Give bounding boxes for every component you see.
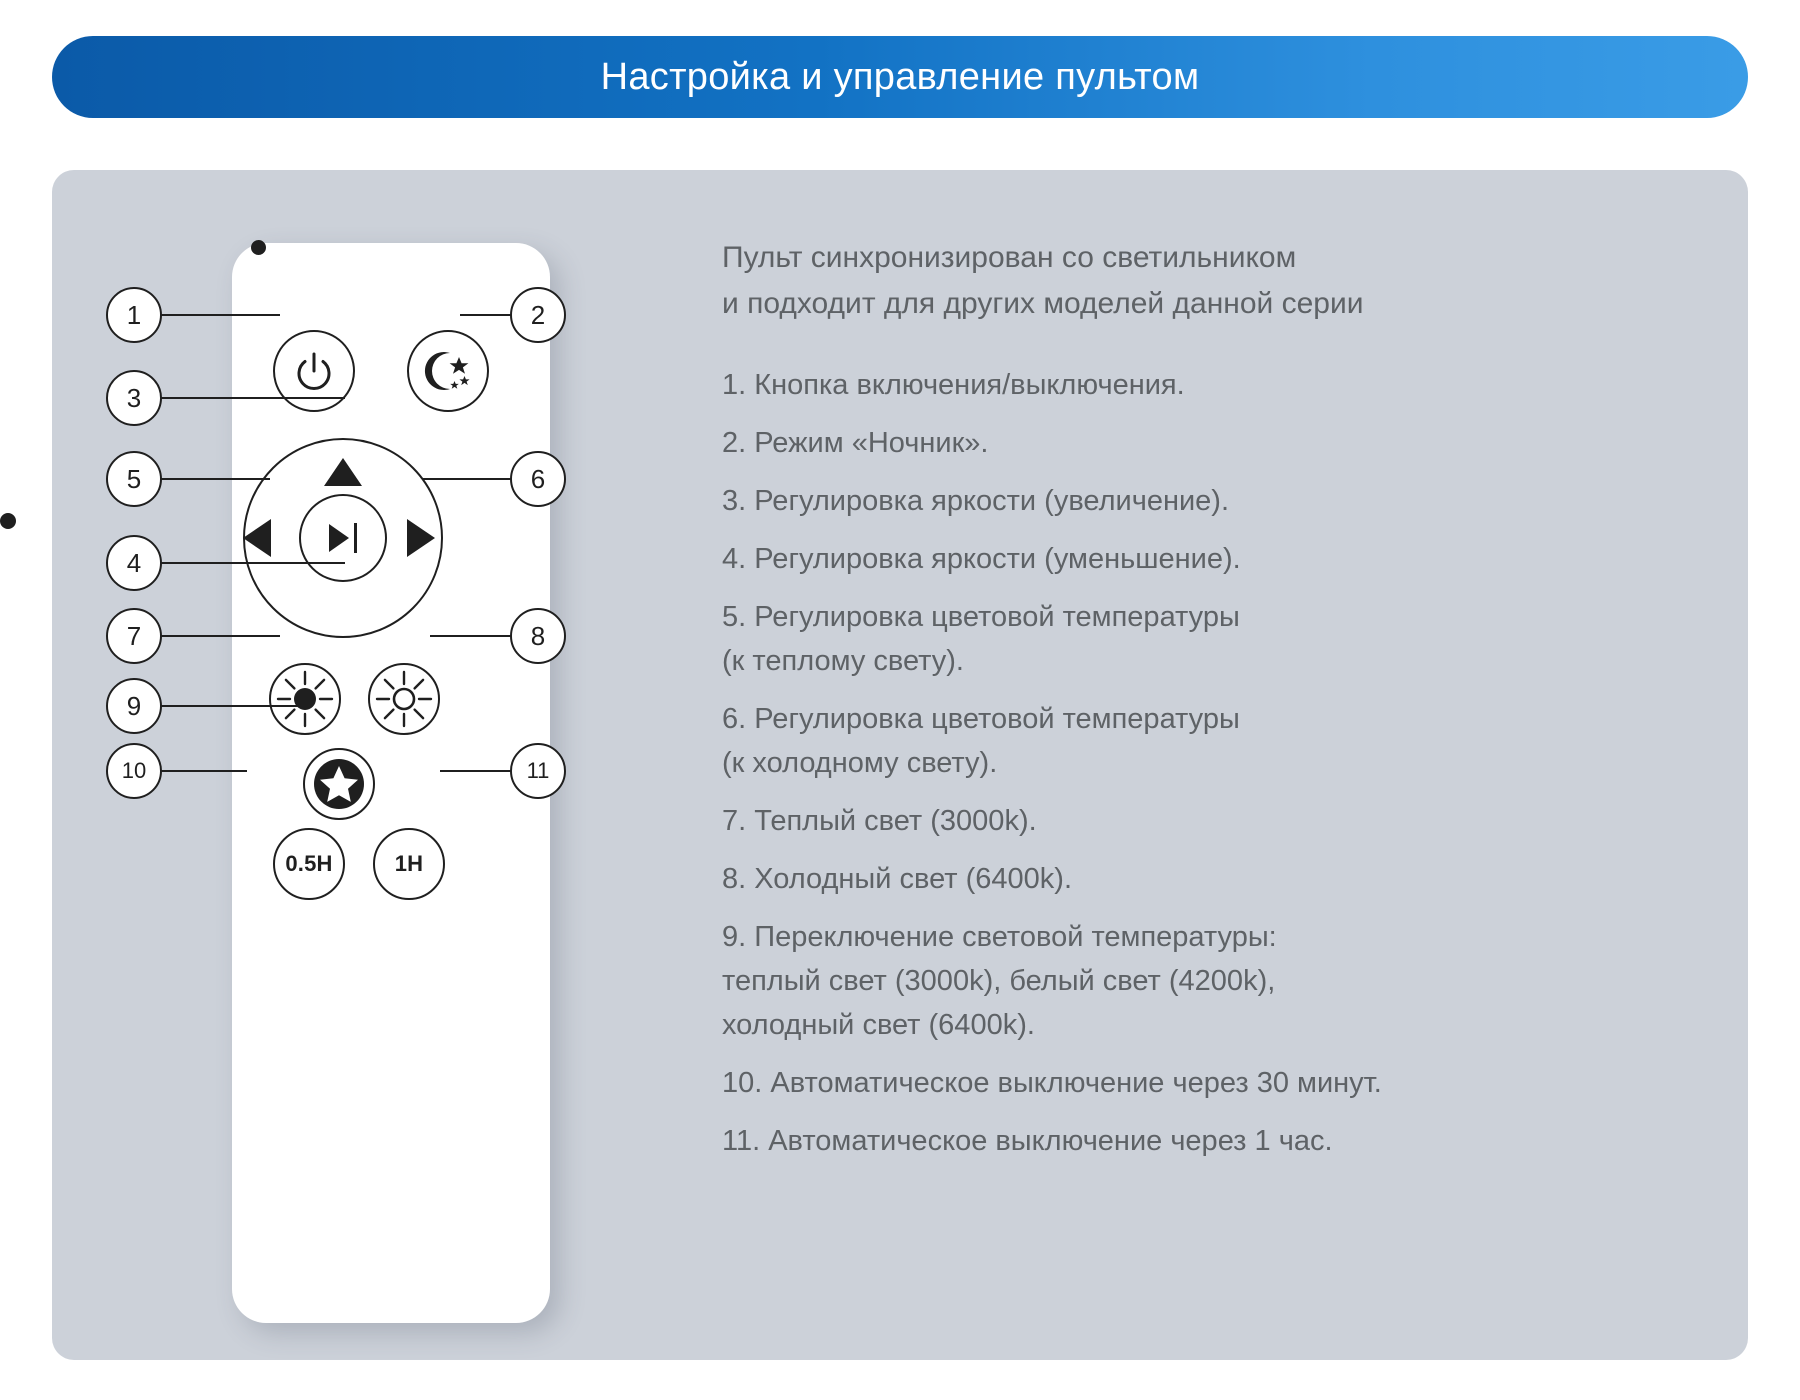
header-banner: Настройка и управление пультом [52, 36, 1748, 118]
play-pause-icon [329, 523, 358, 553]
remote-control-body [232, 243, 550, 1323]
legend-item-2: 2. Режим «Ночник». [722, 421, 1602, 465]
leader-line-5 [160, 478, 270, 480]
color-temp-cycle-button[interactable] [303, 748, 375, 820]
power-icon [292, 349, 336, 393]
callout-badge-1[interactable]: 1 [106, 287, 162, 343]
timer-1hour-button[interactable]: 1H [373, 828, 445, 900]
callout-badge-3[interactable]: 3 [106, 370, 162, 426]
page-root: Настройка и управление пультом [0, 0, 1800, 1400]
legend-item-6: 6. Регулировка цветовой температуры (к х… [722, 697, 1602, 785]
star-icon [310, 755, 368, 813]
sun-filled-icon [274, 668, 336, 730]
callout-badge-7[interactable]: 7 [106, 608, 162, 664]
callout-badge-2[interactable]: 2 [510, 287, 566, 343]
leader-line-6 [422, 478, 522, 480]
timer-1hour-label: 1H [395, 851, 424, 877]
moon-stars-icon [420, 343, 476, 399]
brightness-up-button[interactable] [324, 458, 362, 486]
play-pause-button[interactable] [299, 494, 387, 582]
night-mode-button[interactable] [407, 330, 489, 412]
legend-item-8: 8. Холодный свет (6400k). [722, 857, 1602, 901]
legend-item-5: 5. Регулировка цветовой температуры (к т… [722, 595, 1602, 683]
callout-badge-5[interactable]: 5 [106, 451, 162, 507]
leader-line-4 [160, 562, 345, 564]
legend-item-3: 3. Регулировка яркости (увеличение). [722, 479, 1602, 523]
leader-line-7 [160, 635, 280, 637]
leader-line-9 [160, 705, 305, 707]
sun-outline-icon [373, 668, 435, 730]
leader-line-1 [160, 314, 280, 316]
ir-led-dot [251, 240, 266, 255]
timer-30min-button[interactable]: 0.5H [273, 828, 345, 900]
cold-light-button[interactable] [368, 663, 440, 735]
power-button[interactable] [273, 330, 355, 412]
legend-item-9: 9. Переключение световой температуры: те… [722, 915, 1602, 1047]
legend-item-4: 4. Регулировка яркости (уменьшение). [722, 537, 1602, 581]
leader-line-8 [430, 635, 522, 637]
play-triangle-icon [329, 524, 349, 552]
callout-badge-11[interactable]: 11 [510, 743, 566, 799]
legend-item-10: 10. Автоматическое выключение через 30 м… [722, 1061, 1602, 1105]
ir-led-indicator [0, 513, 16, 529]
callout-badge-9[interactable]: 9 [106, 678, 162, 734]
callout-badge-4[interactable]: 4 [106, 535, 162, 591]
callout-badge-8[interactable]: 8 [510, 608, 566, 664]
callout-badge-10[interactable]: 10 [106, 743, 162, 799]
leader-line-3 [160, 397, 345, 399]
timer-30min-label: 0.5H [285, 851, 332, 877]
leader-line-10 [160, 770, 247, 772]
callout-badge-6[interactable]: 6 [510, 451, 566, 507]
instructions-panel: Пульт синхронизирован со светильником и … [722, 235, 1602, 1177]
color-temp-warm-button[interactable] [243, 519, 271, 557]
intro-text: Пульт синхронизирован со светильником и … [722, 235, 1602, 327]
legend-item-11: 11. Автоматическое выключение через 1 ча… [722, 1119, 1602, 1163]
color-temp-cold-button[interactable] [407, 519, 435, 557]
warm-light-button[interactable] [269, 663, 341, 735]
legend-item-7: 7. Теплый свет (3000k). [722, 799, 1602, 843]
legend-item-1: 1. Кнопка включения/выключения. [722, 363, 1602, 407]
page-title: Настройка и управление пультом [601, 56, 1200, 99]
pause-bar-icon [354, 523, 358, 553]
